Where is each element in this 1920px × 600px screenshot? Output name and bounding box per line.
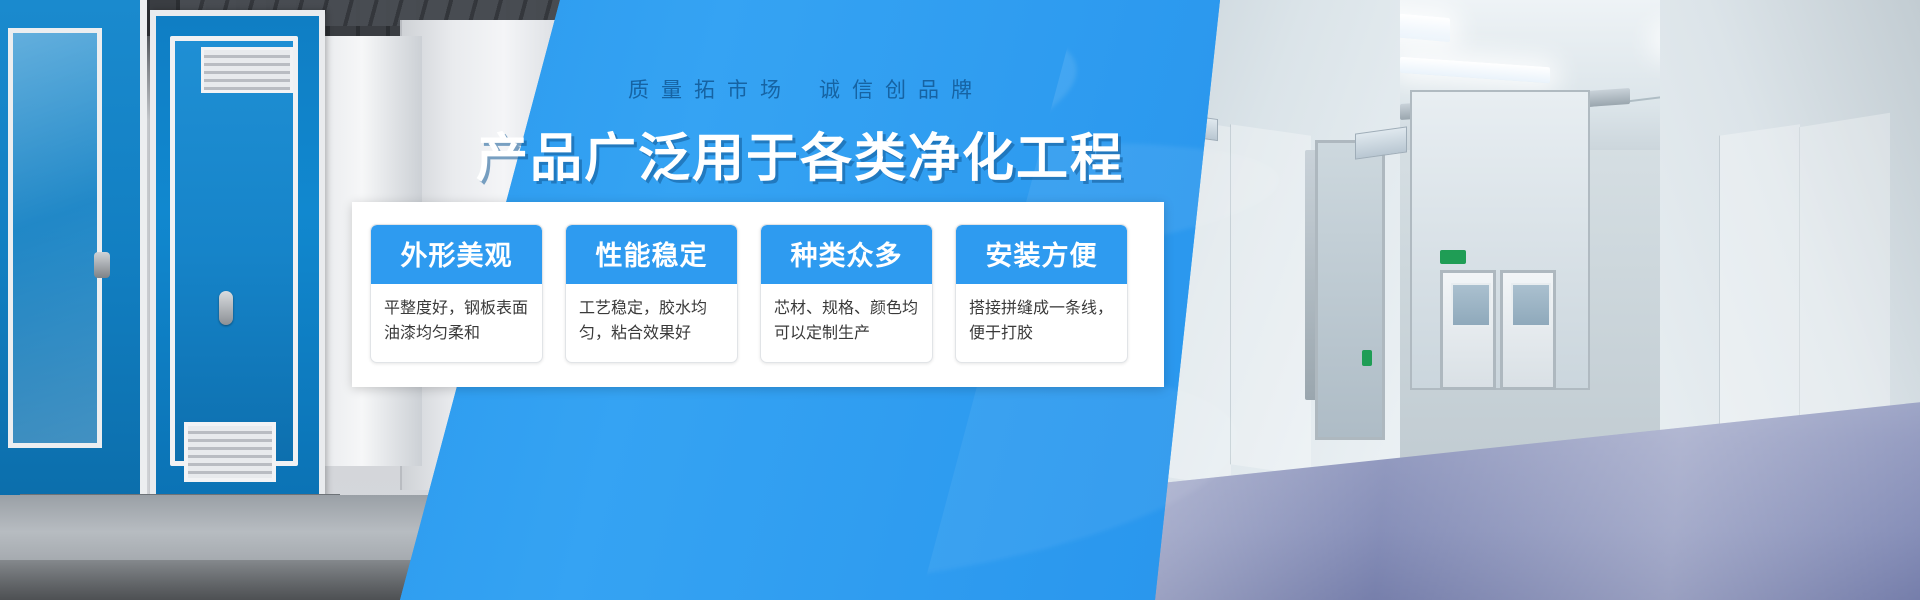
feature-card-1[interactable]: 外形美观 平整度好，钢板表面油漆均匀柔和 — [370, 224, 543, 363]
feature-card-2[interactable]: 性能稳定 工艺稳定，胶水均匀，粘合效果好 — [565, 224, 738, 363]
feature-card-4-title: 安装方便 — [956, 225, 1127, 284]
feature-card-4[interactable]: 安装方便 搭接拼缝成一条线，便于打胶 — [955, 224, 1128, 363]
cabin-lower-vent — [184, 422, 276, 482]
cabin-glass-panel — [8, 28, 102, 448]
blue-portable-cabin — [150, 10, 325, 510]
safety-marker-icon — [1362, 350, 1372, 366]
feature-card-3-title: 种类众多 — [761, 225, 932, 284]
feature-card-2-body: 工艺稳定，胶水均匀，粘合效果好 — [566, 284, 737, 362]
feature-card-2-title: 性能稳定 — [566, 225, 737, 284]
cabin-door-vent-top — [201, 47, 293, 93]
feature-cards-row: 外形美观 平整度好，钢板表面油漆均匀柔和 性能稳定 工艺稳定，胶水均匀，粘合效果… — [370, 224, 1128, 363]
far-door-right — [1500, 270, 1556, 390]
door-handle — [219, 291, 233, 325]
far-door-window-left — [1451, 283, 1491, 327]
blue-cabin-left — [0, 0, 147, 560]
cabin-lock — [94, 252, 110, 278]
far-door-window-right — [1511, 283, 1551, 327]
feature-card-3[interactable]: 种类众多 芯材、规格、颜色均可以定制生产 — [760, 224, 933, 363]
feature-card-4-body: 搭接拼缝成一条线，便于打胶 — [956, 284, 1127, 362]
feature-card-1-title: 外形美观 — [371, 225, 542, 284]
far-door-left — [1440, 270, 1496, 390]
promo-banner: 质量拓市场诚信创品牌 产品广泛用于各类净化工程 外形美观 平整度好，钢板表面油漆… — [0, 0, 1920, 600]
feature-card-1-body: 平整度好，钢板表面油漆均匀柔和 — [371, 284, 542, 362]
cabin-door — [170, 36, 298, 466]
side-door-panel — [1315, 140, 1385, 440]
feature-cards-panel: 外形美观 平整度好，钢板表面油漆均匀柔和 性能稳定 工艺稳定，胶水均匀，粘合效果… — [352, 202, 1164, 387]
exit-sign-icon — [1440, 250, 1466, 264]
feature-card-3-body: 芯材、规格、颜色均可以定制生产 — [761, 284, 932, 362]
